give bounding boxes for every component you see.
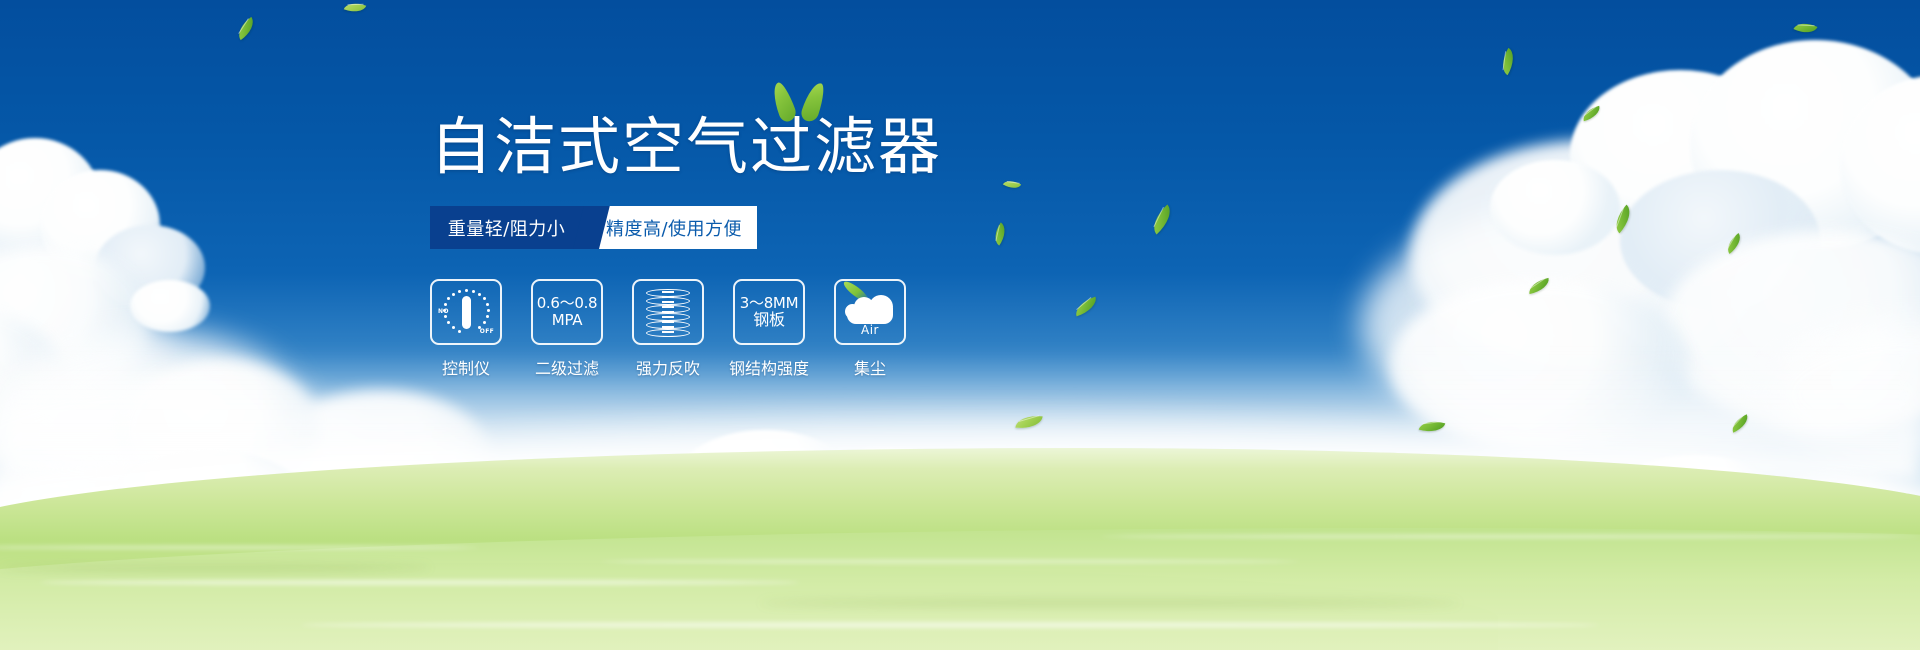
grass-highlight [300,622,1600,628]
feature-unit-pressure: MPA [552,312,582,329]
feature-caption: 控制仪 [442,355,490,379]
knob-label-off: OFF [480,329,494,336]
title-block: 自洁式空气过滤器 [430,104,1070,190]
grass-highlight [40,580,800,585]
feature-item-secondary-filtration[interactable]: 0.6～0.8 MPA 二级过滤 [531,279,603,379]
filter-stack-icon [643,288,693,336]
cloud-air-label: Air [843,324,897,337]
grass-highlight [600,560,1300,563]
feature-icon-box: NO OFF [430,279,502,345]
tag-secondary: 精度高/使用方便 [591,206,757,249]
feature-value-thickness: 3～8MM [740,295,798,312]
grass-shadow [760,600,1460,606]
feature-unit-thickness: 钢板 [753,311,784,329]
feature-icon-box [632,279,704,345]
grass-shadow [0,565,430,571]
feature-caption: 强力反吹 [636,355,700,379]
tag-secondary-label: 精度高/使用方便 [606,215,742,241]
page-title: 自洁式空气过滤器 [430,104,1070,190]
feature-icon-box: 0.6～0.8 MPA [531,279,603,345]
grass-highlight [1100,535,1920,538]
feature-item-dust-collection[interactable]: Air 集尘 [834,279,906,379]
feature-value-pressure: 0.6～0.8 [537,295,598,312]
cloud-base [847,308,893,324]
title-leaf-icon [775,82,835,128]
title-leaf-right-icon [799,80,828,123]
knob-label-no: NO [438,309,449,316]
feature-caption: 钢结构强度 [729,355,809,379]
feature-icon-box: Air [834,279,906,345]
feature-caption: 集尘 [854,355,886,379]
banner-content: 自洁式空气过滤器 重量轻/阻力小 精度高/使用方便 [430,104,1070,379]
feature-item-strong-backblow[interactable]: 强力反吹 [632,279,704,379]
power-knob-icon: NO OFF [439,287,493,337]
air-cloud-icon: Air [843,289,897,335]
feature-icon-list: NO OFF 控制仪 0.6～0.8 MPA 二级过滤 [430,279,1070,379]
feature-caption: 二级过滤 [535,355,599,379]
product-hero-banner: 自洁式空气过滤器 重量轻/阻力小 精度高/使用方便 [0,0,1920,650]
knob-pointer [462,296,471,329]
feature-tag-bar: 重量轻/阻力小 精度高/使用方便 [430,206,757,249]
feature-icon-box: 3～8MM 钢板 [733,279,805,345]
feature-item-controller[interactable]: NO OFF 控制仪 [430,279,502,379]
tag-primary: 重量轻/阻力小 [430,206,591,249]
feature-item-steel-structure[interactable]: 3～8MM 钢板 钢结构强度 [733,279,805,379]
